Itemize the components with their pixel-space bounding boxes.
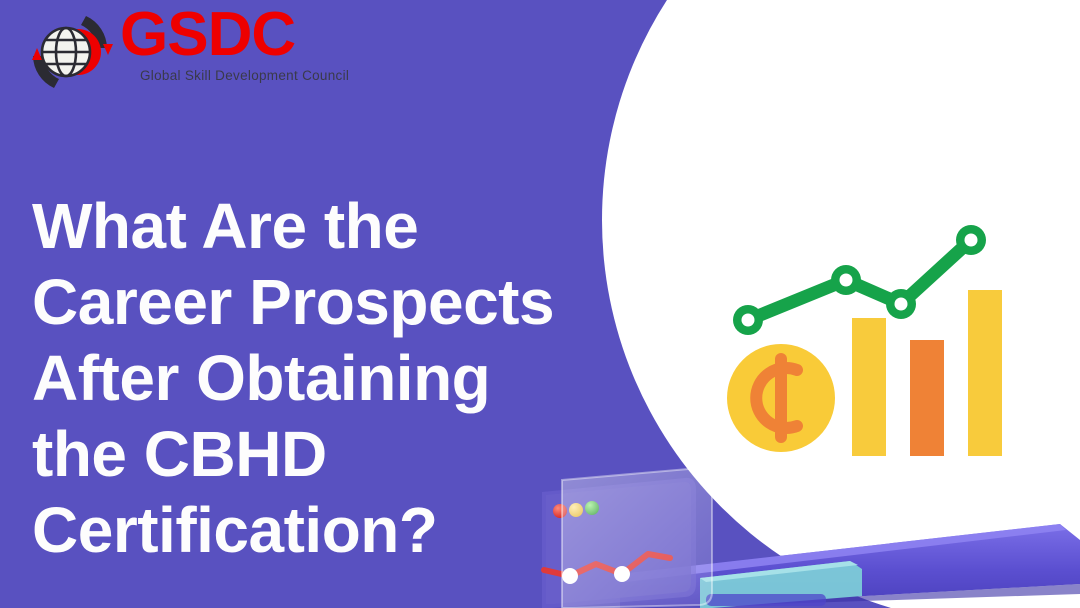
bar-3 [968,290,1002,456]
bar-2 [910,340,944,456]
logo-wordmark: GSDC [120,0,295,70]
3d-browser-window-illustration [500,466,1080,608]
globe-arc-logo-icon [24,6,116,98]
poster-canvas: GSDC Global Skill Development Council Wh… [0,0,1080,608]
device-glass-pane [562,468,712,608]
headline-line-1: What Are the [32,188,672,264]
headline-line-2: Career Prospects [32,264,672,340]
logo-text-block: GSDC Global Skill Development Council [120,4,360,100]
coin-icon [727,344,835,452]
logo-tagline: Global Skill Development Council [140,68,349,83]
headline-line-3: After Obtaining [32,340,672,416]
gsdc-logo[interactable]: GSDC Global Skill Development Council [24,4,364,102]
bar-line-chart-illustration [726,218,1016,463]
bar-1 [852,318,886,456]
